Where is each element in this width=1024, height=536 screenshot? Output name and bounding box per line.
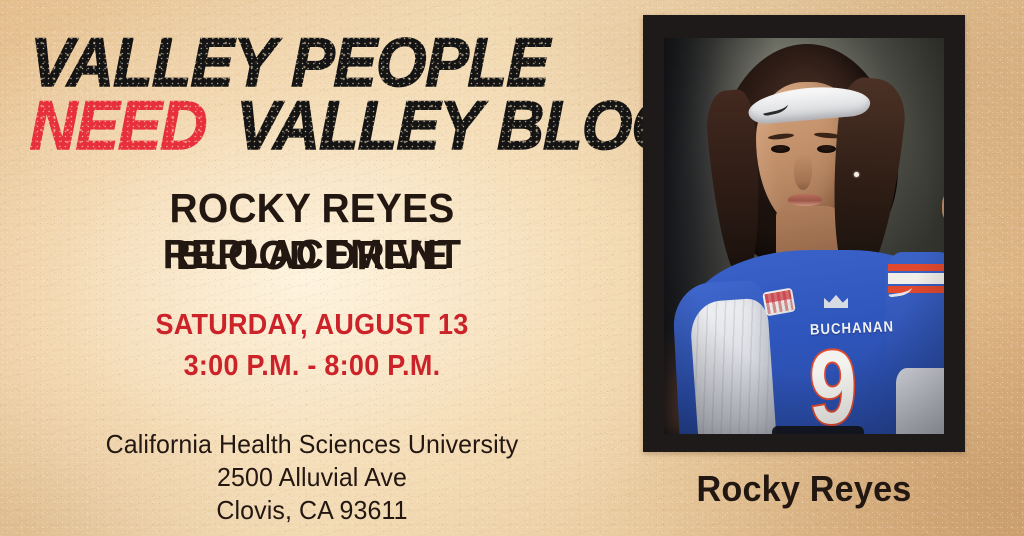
venue-street: 2500 Alluvial Ave (26, 461, 598, 494)
undershirt-fold-lines (689, 297, 777, 434)
player-eye-left (771, 145, 790, 153)
player-ear (942, 194, 944, 220)
player-right-forearm (896, 368, 944, 434)
player-undershirt (689, 297, 777, 434)
left-text-column: VALLEY PEOPLE NEED VALLEY BLOOD ROCKY RE… (0, 0, 620, 536)
headline-text-need: NEED (30, 96, 207, 157)
nike-swoosh-icon (761, 99, 789, 116)
event-time: 3:00 P.M. - 8:00 P.M. (35, 350, 589, 383)
blood-drive-flyer: VALLEY PEOPLE NEED VALLEY BLOOD ROCKY RE… (0, 0, 1024, 536)
headline-line-2: NEED VALLEY BLOOD (30, 96, 610, 157)
player-nose (794, 154, 812, 190)
event-date: SATURDAY, AUGUST 13 (35, 309, 589, 342)
headline-text-valley-people: VALLEY PEOPLE (30, 33, 550, 94)
jersey-shoulder-patch (762, 288, 796, 317)
photo-frame: BUCHANAN 9 (643, 15, 965, 452)
player-eye-right (817, 145, 836, 153)
headline-line-1: VALLEY PEOPLE (30, 33, 610, 94)
sleeve-stripe-white (888, 273, 944, 284)
subheading-line-2: BLOOD DRIVE (29, 233, 595, 279)
player-lips (788, 194, 822, 206)
player-photo: BUCHANAN 9 (664, 38, 944, 434)
venue-name: California Health Sciences University (26, 428, 598, 461)
venue-city-state-zip: Clovis, CA 93611 (26, 494, 598, 527)
player-belt (772, 426, 864, 434)
player-earring (854, 172, 859, 177)
sleeve-stripe-red-top (888, 264, 944, 271)
jersey-number: 9 (809, 336, 856, 434)
photo-caption: Rocky Reyes (651, 468, 957, 510)
